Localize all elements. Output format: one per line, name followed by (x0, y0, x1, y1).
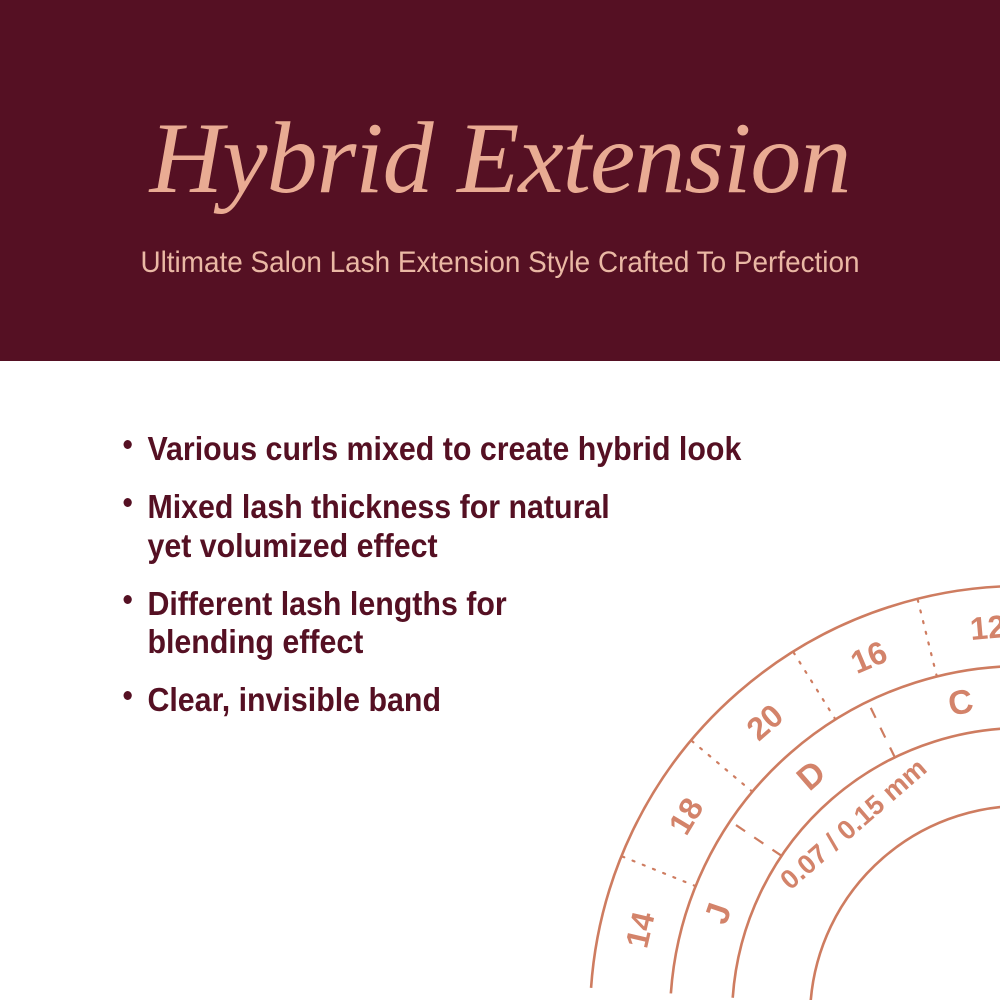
thickness-ring-inner-arc (811, 806, 1000, 1000)
list-item-label: Mixed lash thickness for natural yet vol… (147, 488, 609, 563)
list-item-label: Clear, invisible band (147, 681, 441, 718)
page-title: Hybrid Extension (0, 108, 1000, 210)
bullet-dot-icon (124, 595, 132, 604)
feature-list: Various curls mixed to create hybrid loo… (118, 430, 818, 740)
page-subtitle: Ultimate Salon Lash Extension Style Craf… (35, 246, 965, 279)
curl-type-label: C (945, 682, 976, 724)
header-band: Hybrid Extension Ultimate Salon Lash Ext… (0, 0, 1000, 361)
list-item: Different lash lengths for blending effe… (118, 585, 626, 662)
ring-divider (621, 856, 695, 886)
ring-divider (691, 740, 752, 791)
ring-divider (868, 702, 895, 758)
lash-length-label: 18 (661, 792, 710, 841)
ring-divider (917, 599, 936, 677)
bullet-dot-icon (124, 498, 132, 507)
lash-length-label: 12 (969, 608, 1000, 647)
lash-length-label: 16 (845, 634, 892, 681)
lash-length-label: 14 (619, 908, 662, 951)
list-item: Mixed lash thickness for natural yet vol… (118, 488, 626, 565)
bullet-dot-icon (124, 691, 132, 700)
curl-type-label: J (697, 898, 739, 928)
list-item: Clear, invisible band (118, 681, 762, 719)
bullet-dot-icon (124, 440, 132, 449)
curl-type-label: D (790, 753, 833, 798)
curl-type-ring-inner-arc (733, 728, 1000, 998)
ring-divider (730, 821, 781, 856)
list-item-label: Various curls mixed to create hybrid loo… (147, 430, 741, 467)
list-item-label: Different lash lengths for blending effe… (147, 585, 506, 660)
thickness-ring-labels: 0.07 / 0.15 mm (774, 753, 932, 896)
list-item: Various curls mixed to create hybrid loo… (118, 430, 762, 468)
thickness-label: 0.07 / 0.15 mm (774, 753, 932, 896)
infographic-page: Hybrid Extension Ultimate Salon Lash Ext… (0, 0, 1000, 1000)
